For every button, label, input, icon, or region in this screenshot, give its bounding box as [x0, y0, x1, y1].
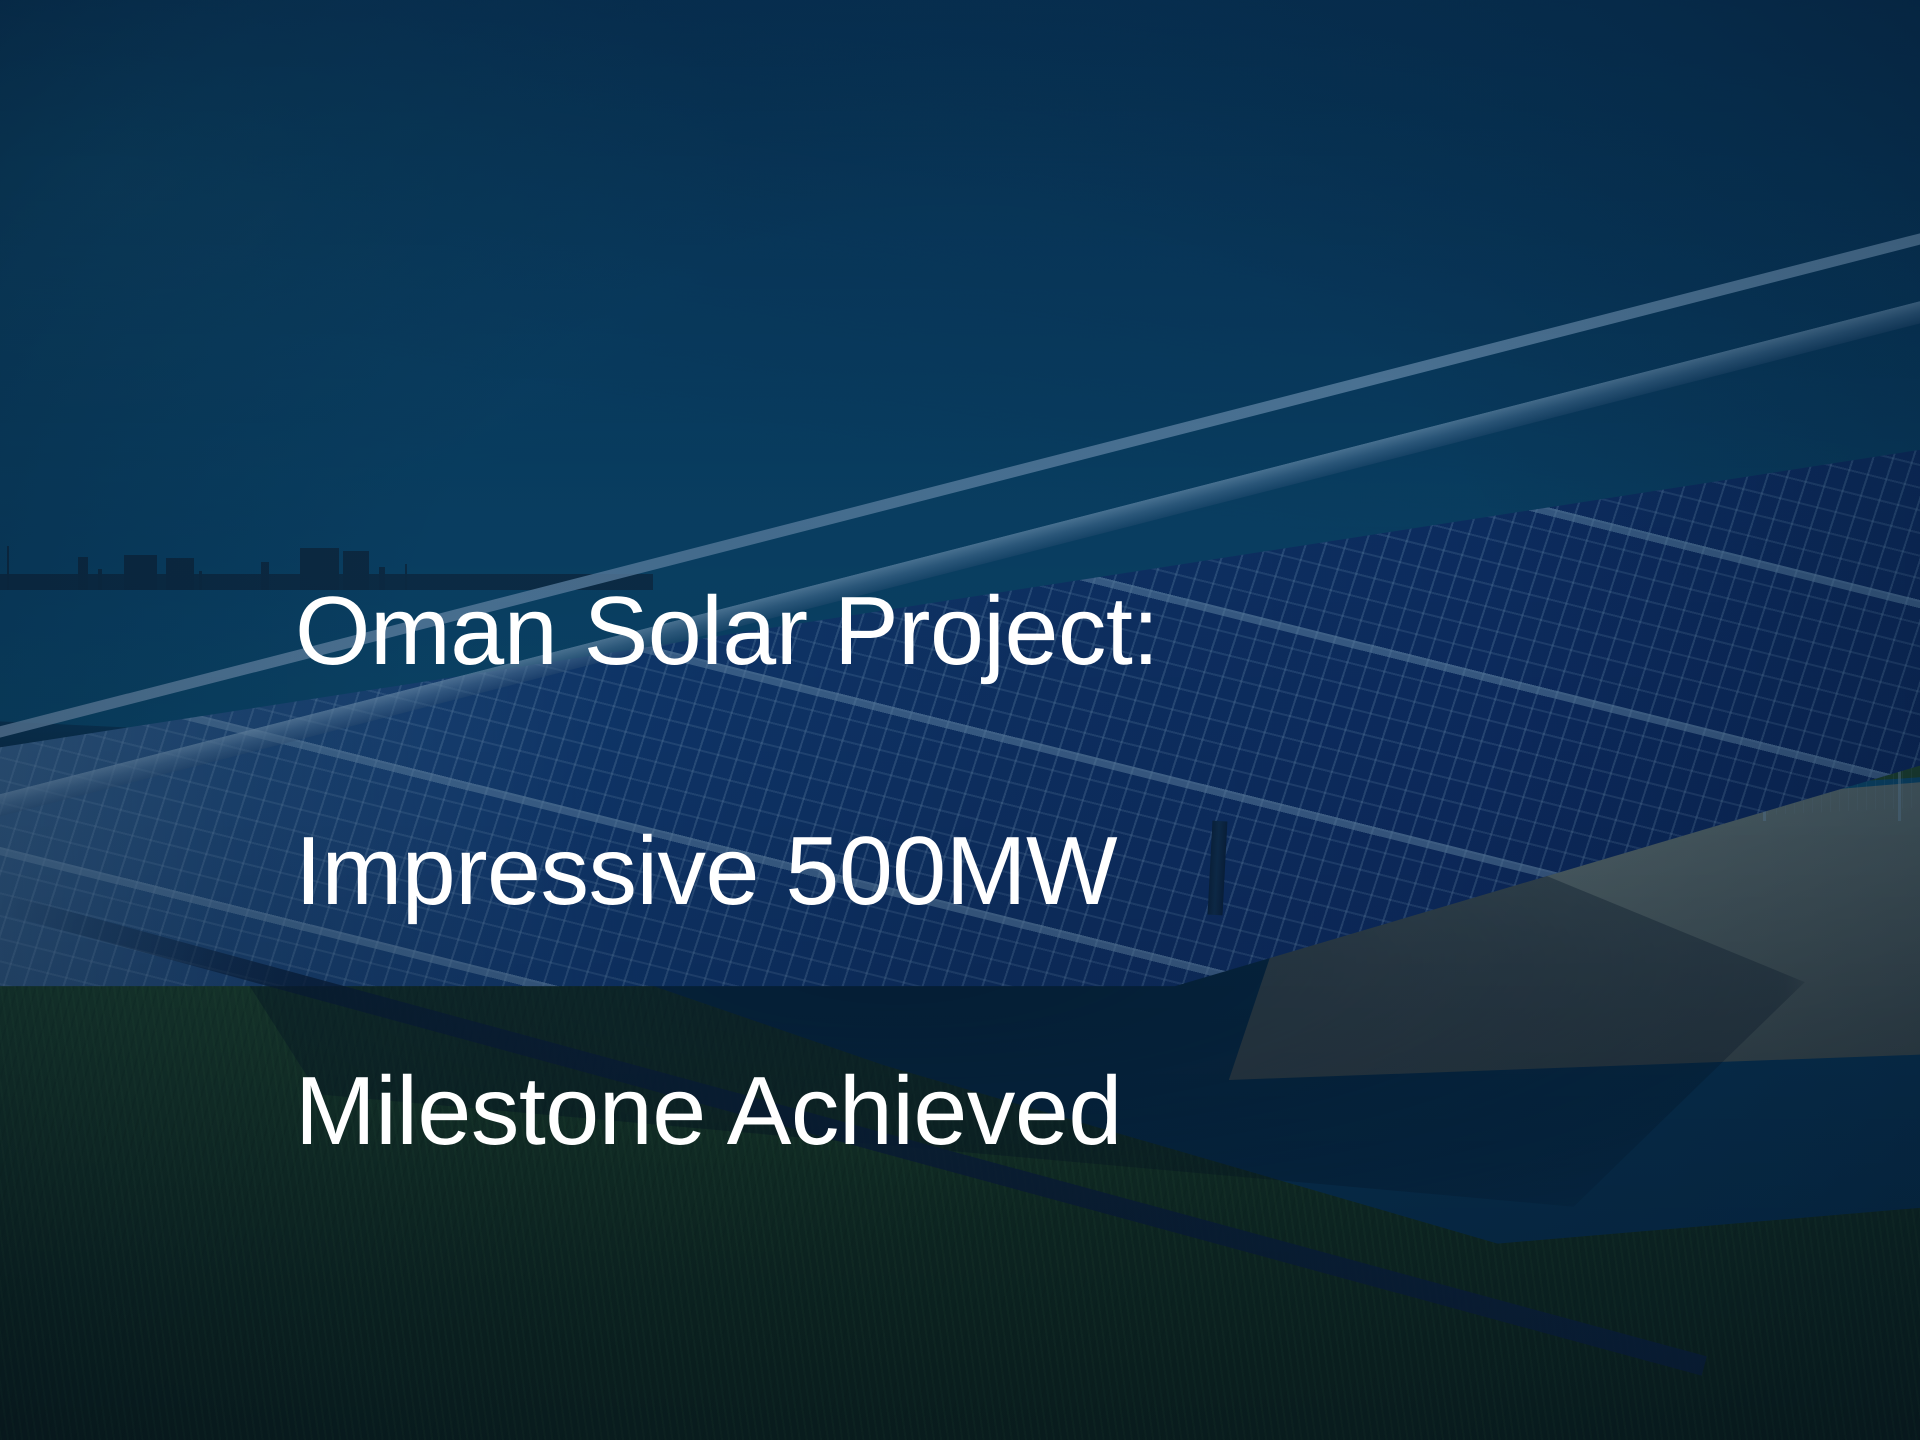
headline-line-1: Oman Solar Project: — [295, 571, 1275, 691]
headline-line-2: Impressive 500MW — [295, 811, 1275, 931]
headline: Oman Solar Project: Impressive 500MW Mil… — [295, 451, 1275, 1291]
hero-banner: Oman Solar Project: Impressive 500MW Mil… — [0, 0, 1920, 1440]
headline-line-3: Milestone Achieved — [295, 1051, 1275, 1171]
